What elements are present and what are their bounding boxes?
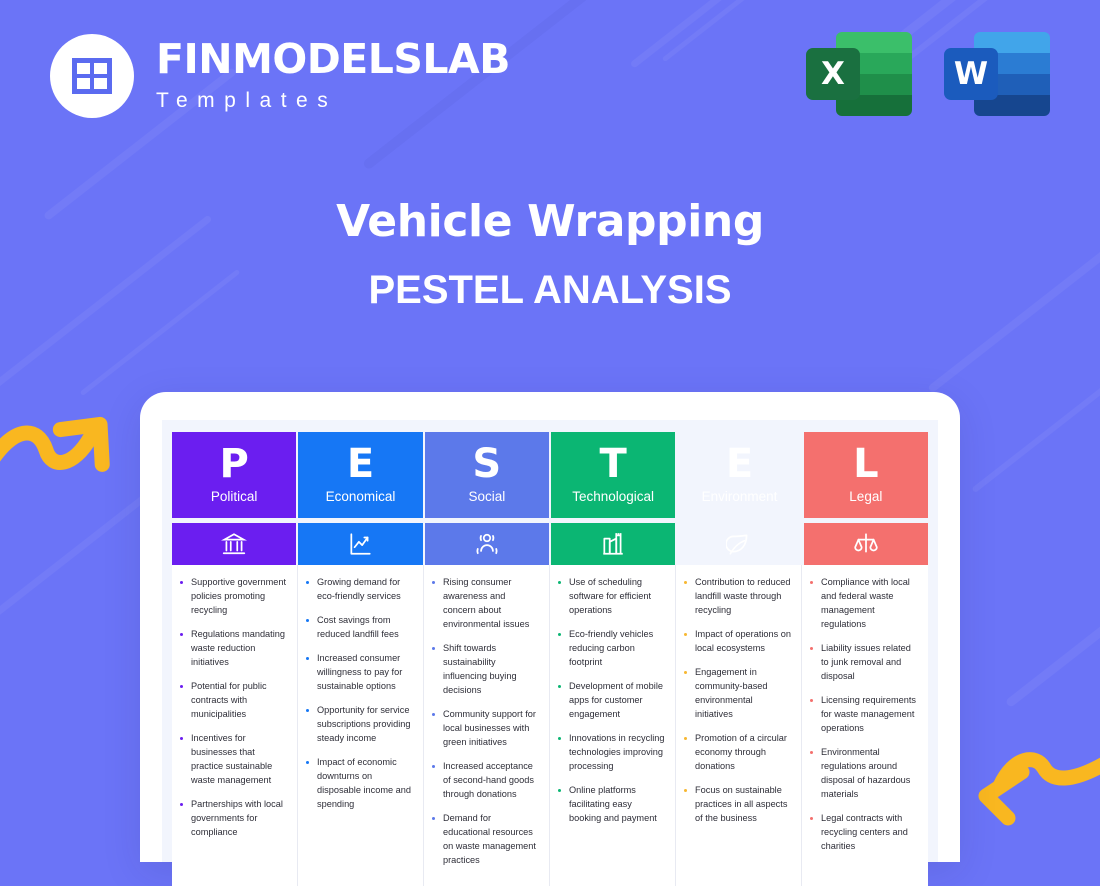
list-item: Licensing requirements for waste managem… <box>808 694 919 736</box>
brand-subtitle: Templates <box>156 89 510 113</box>
pestel-header-environment[interactable]: EEnvironment <box>677 432 801 518</box>
bullet-list: Supportive government policies promoting… <box>178 576 288 840</box>
list-item: Increased consumer willingness to pay fo… <box>304 652 414 694</box>
list-item: Incentives for businesses that practice … <box>178 732 288 788</box>
pestel-letter: E <box>347 446 374 483</box>
pestel-content-legal: Compliance with local and federal waste … <box>802 565 928 886</box>
page-subtitle: PESTEL ANALYSIS <box>0 268 1100 313</box>
pestel-label: Political <box>211 489 258 504</box>
word-icon[interactable]: W <box>944 26 1050 122</box>
list-item: Impact of economic downturns on disposab… <box>304 756 414 812</box>
pestel-header-economical[interactable]: EEconomical <box>298 432 422 518</box>
excel-icon[interactable]: X <box>806 26 912 122</box>
pestel-content-row: Supportive government policies promoting… <box>172 565 928 886</box>
pestel-label: Technological <box>572 489 654 504</box>
leaf-icon <box>677 523 801 565</box>
bullet-list: Contribution to reduced landfill waste t… <box>682 576 792 826</box>
logo-circle <box>50 34 134 118</box>
list-item: Cost savings from reduced landfill fees <box>304 614 414 642</box>
pestel-header-social[interactable]: SSocial <box>425 432 549 518</box>
list-item: Opportunity for service subscriptions pr… <box>304 704 414 746</box>
people-group-icon <box>425 523 549 565</box>
pestel-label: Environment <box>702 489 778 504</box>
excel-icon-letter: X <box>806 48 860 100</box>
list-item: Partnerships with local governments for … <box>178 798 288 840</box>
list-item: Development of mobile apps for customer … <box>556 680 666 722</box>
list-item: Potential for public contracts with muni… <box>178 680 288 722</box>
list-item: Promotion of a circular economy through … <box>682 732 792 774</box>
bullet-list: Use of scheduling software for efficient… <box>556 576 666 826</box>
pestel-letter: L <box>853 446 879 483</box>
page-title: Vehicle Wrapping <box>0 196 1100 247</box>
pestel-header-row: PPoliticalEEconomicalSSocialTTechnologic… <box>172 432 928 518</box>
pestel-header-technological[interactable]: TTechnological <box>551 432 675 518</box>
list-item: Shift towards sustainability influencing… <box>430 642 540 698</box>
page-header: FINMODELSLAB Templates X W <box>0 0 1100 150</box>
factory-building-icon <box>551 523 675 565</box>
pestel-content-technological: Use of scheduling software for efficient… <box>550 565 676 886</box>
word-icon-letter: W <box>944 48 998 100</box>
pestel-label: Economical <box>326 489 396 504</box>
list-item: Community support for local businesses w… <box>430 708 540 750</box>
grid-squares-icon <box>72 58 112 94</box>
pestel-icon-row <box>172 518 928 565</box>
bullet-list: Rising consumer awareness and concern ab… <box>430 576 540 868</box>
squiggly-arrow-up-right-icon <box>0 404 136 489</box>
bank-institution-icon <box>172 523 296 565</box>
list-item: Increased acceptance of second-hand good… <box>430 760 540 802</box>
tablet-frame: PPoliticalEEconomicalSSocialTTechnologic… <box>140 392 960 862</box>
pestel-letter: T <box>600 446 627 483</box>
brand-logo[interactable]: FINMODELSLAB Templates <box>50 34 510 118</box>
list-item: Rising consumer awareness and concern ab… <box>430 576 540 632</box>
tablet-screen: PPoliticalEEconomicalSSocialTTechnologic… <box>162 420 938 862</box>
squiggly-arrow-down-left-icon <box>956 752 1100 837</box>
list-item: Innovations in recycling technologies im… <box>556 732 666 774</box>
list-item: Growing demand for eco-friendly services <box>304 576 414 604</box>
pestel-header-political[interactable]: PPolitical <box>172 432 296 518</box>
list-item: Eco-friendly vehicles reducing carbon fo… <box>556 628 666 670</box>
brand-title: FINMODELSLAB <box>156 39 510 80</box>
pestel-content-social: Rising consumer awareness and concern ab… <box>424 565 550 886</box>
page-title-block: Vehicle Wrapping PESTEL ANALYSIS <box>0 196 1100 313</box>
pestel-label: Legal <box>849 489 882 504</box>
list-item: Online platforms facilitating easy booki… <box>556 784 666 826</box>
pestel-letter: E <box>726 446 753 483</box>
pestel-letter: S <box>472 446 501 483</box>
list-item: Legal contracts with recycling centers a… <box>808 812 919 854</box>
list-item: Liability issues related to junk removal… <box>808 642 919 684</box>
list-item: Use of scheduling software for efficient… <box>556 576 666 618</box>
bullet-list: Growing demand for eco-friendly services… <box>304 576 414 812</box>
scales-justice-icon <box>804 523 928 565</box>
line-chart-icon <box>298 523 422 565</box>
list-item: Demand for educational resources on wast… <box>430 812 540 868</box>
pestel-content-economical: Growing demand for eco-friendly services… <box>298 565 424 886</box>
pestel-letter: P <box>220 446 249 483</box>
list-item: Engagement in community-based environmen… <box>682 666 792 722</box>
pestel-header-legal[interactable]: LLegal <box>804 432 928 518</box>
office-format-icons: X W <box>806 26 1050 122</box>
list-item: Environmental regulations around disposa… <box>808 746 919 802</box>
pestel-label: Social <box>468 489 505 504</box>
list-item: Impact of operations on local ecosystems <box>682 628 792 656</box>
pestel-content-political: Supportive government policies promoting… <box>172 565 298 886</box>
list-item: Contribution to reduced landfill waste t… <box>682 576 792 618</box>
list-item: Focus on sustainable practices in all as… <box>682 784 792 826</box>
list-item: Supportive government policies promoting… <box>178 576 288 618</box>
list-item: Compliance with local and federal waste … <box>808 576 919 632</box>
pestel-content-environment: Contribution to reduced landfill waste t… <box>676 565 802 886</box>
bullet-list: Compliance with local and federal waste … <box>808 576 919 854</box>
list-item: Regulations mandating waste reduction in… <box>178 628 288 670</box>
